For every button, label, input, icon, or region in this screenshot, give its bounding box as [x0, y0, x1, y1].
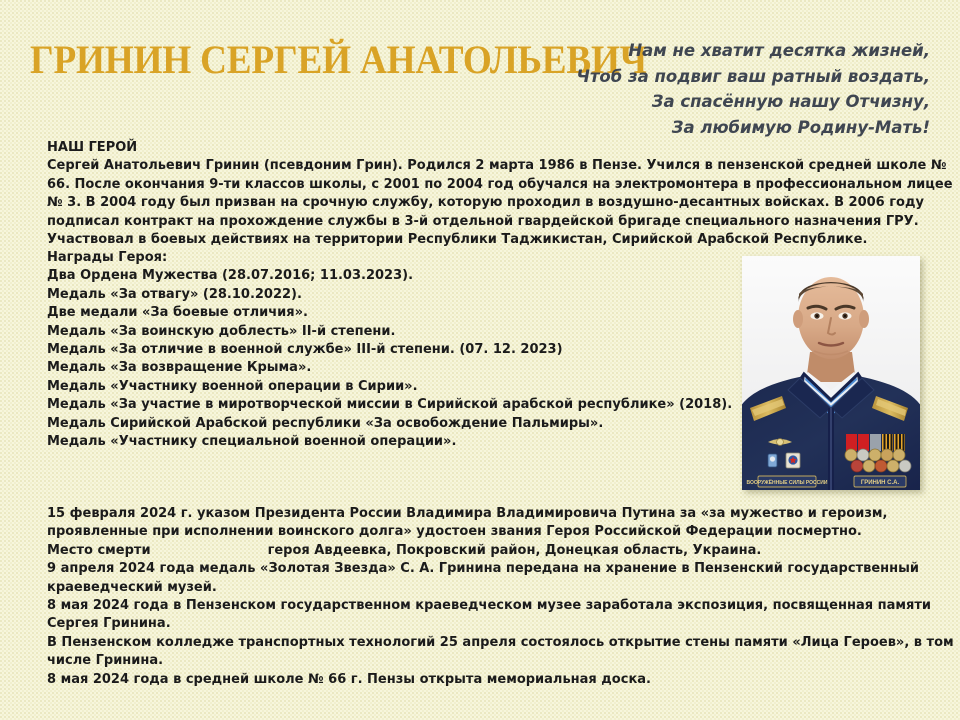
death-place-label: Место смерти	[47, 543, 151, 558]
memorial-line: числе Гринина.	[47, 652, 927, 670]
award-item: Медаль «За отличие в военной службе» III…	[47, 341, 747, 359]
biography-heading: НАШ ГЕРОЙ	[47, 139, 913, 157]
hero-portrait-photo: ГРИНИН С.А. ВООРУЖЁННЫЕ СИЛЫ РОССИИ	[742, 256, 920, 490]
decree-line: 15 февраля 2024 г. указом Президента Рос…	[47, 505, 927, 523]
biography-line: Участвовал в боевых действиях на террито…	[47, 231, 913, 249]
biography-block: НАШ ГЕРОЙ Сергей Анатольевич Гринин (псе…	[47, 139, 913, 249]
biography-line: подписал контракт на прохождение службы …	[47, 213, 913, 231]
memorial-block: 15 февраля 2024 г. указом Президента Рос…	[47, 505, 927, 689]
portrait-illustration: ГРИНИН С.А. ВООРУЖЁННЫЕ СИЛЫ РОССИИ	[742, 256, 920, 490]
memorial-line: Сергея Гринина.	[47, 615, 927, 633]
svg-text:ГРИНИН С.А.: ГРИНИН С.А.	[861, 480, 900, 486]
award-item: Медаль «Участнику военной операции в Сир…	[47, 378, 747, 396]
biography-line: 66. После окончания 9-ти классов школы, …	[47, 176, 913, 194]
award-item: Медаль «За воинскую доблесть» II-й степе…	[47, 323, 747, 341]
memorial-line: 8 мая 2024 года в средней школе № 66 г. …	[47, 671, 927, 689]
biography-line: Сергей Анатольевич Гринин (псевдоним Гри…	[47, 157, 913, 175]
award-item: Два Ордена Мужества (28.07.2016; 11.03.2…	[47, 267, 747, 285]
poem-line: Чтоб за подвиг ваш ратный воздать,	[510, 64, 930, 90]
memorial-line: 9 апреля 2024 года медаль «Золотая Звезд…	[47, 560, 927, 578]
poem-line: За любимую Родину-Мать!	[510, 115, 930, 141]
decree-line: проявленные при исполнении воинского дол…	[47, 523, 927, 541]
page-title: ГРИНИН СЕРГЕЙ АНАТОЛЬЕВИЧ	[30, 38, 523, 82]
memorial-line: В Пензенском колледже транспортных техно…	[47, 634, 927, 652]
award-item: Две медали «За боевые отличия».	[47, 304, 747, 322]
awards-heading: Награды Героя:	[47, 249, 747, 267]
svg-text:ВООРУЖЁННЫЕ СИЛЫ РОССИИ: ВООРУЖЁННЫЕ СИЛЫ РОССИИ	[747, 479, 828, 486]
death-place-value: героя Авдеевка, Покровский район, Донецк…	[268, 543, 762, 558]
poster-background: ГРИНИН СЕРГЕЙ АНАТОЛЬЕВИЧ Нам не хватит …	[0, 0, 960, 720]
biography-line: № 3. В 2004 году был призван на срочную …	[47, 194, 913, 212]
poem-line: Нам не хватит десятка жизней,	[510, 38, 930, 64]
award-item: Медаль Сирийской Арабской республики «За…	[47, 415, 747, 433]
award-item: Медаль «Участнику специальной военной оп…	[47, 433, 747, 451]
memorial-line: 8 мая 2024 года в Пензенском государстве…	[47, 597, 927, 615]
poem-line: За спасённую нашу Отчизну,	[510, 89, 930, 115]
poem-block: Нам не хватит десятка жизней, Чтоб за по…	[510, 38, 930, 140]
death-place-line: Место смертигероя Авдеевка, Покровский р…	[47, 542, 927, 560]
award-item: Медаль «За участие в миротворческой мисс…	[47, 396, 747, 414]
award-item: Медаль «За отвагу» (28.10.2022).	[47, 286, 747, 304]
award-item: Медаль «За возвращение Крыма».	[47, 359, 747, 377]
awards-block: Награды Героя: Два Ордена Мужества (28.0…	[47, 249, 747, 451]
memorial-line: краеведческий музей.	[47, 579, 927, 597]
